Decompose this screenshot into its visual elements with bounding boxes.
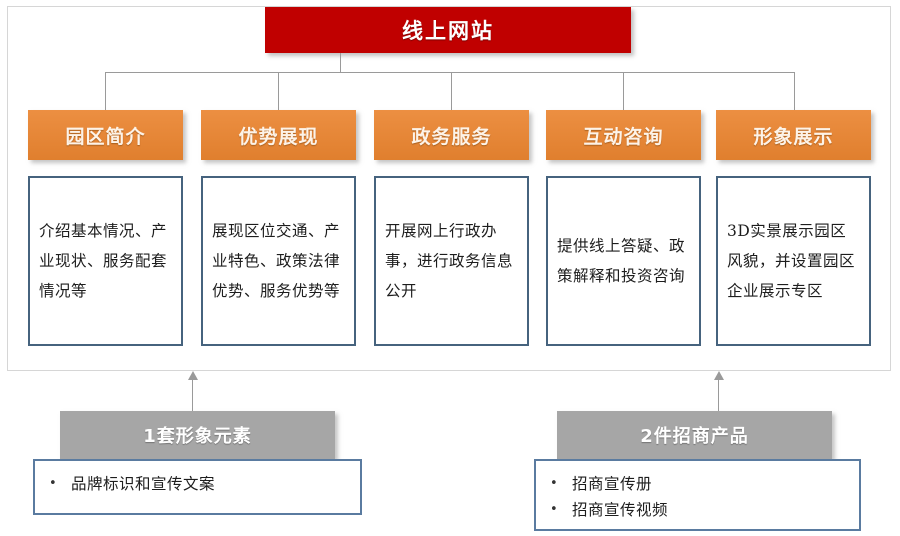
connector-drop-4 xyxy=(794,72,795,110)
branch-description-label: 3D实景展示园区风貌，并设置园区企业展示专区 xyxy=(727,216,860,306)
arrow-head-icon xyxy=(714,371,724,380)
connector-horizontal-bus xyxy=(105,72,794,73)
list-item: • 品牌标识和宣传文案 xyxy=(49,471,354,497)
branch-header-label: 园区简介 xyxy=(65,122,145,149)
connector-drop-2 xyxy=(451,72,452,110)
root-node-label: 线上网站 xyxy=(402,15,494,45)
branch-header-label: 优势展现 xyxy=(238,122,318,149)
bullet-dot-icon: • xyxy=(550,471,562,497)
branch-header-label: 形象展示 xyxy=(753,122,833,149)
arrow-shaft xyxy=(718,379,719,412)
branch-column-4: 形象展示 3D实景展示园区风貌，并设置园区企业展示专区 xyxy=(716,110,871,346)
branch-description-interactive-consulting: 提供线上答疑、政策解释和投资咨询 xyxy=(546,176,701,346)
branch-description-label: 介绍基本情况、产业现状、服务配套情况等 xyxy=(39,216,172,306)
bottom-group-title-investment-products[interactable]: 2件招商产品 xyxy=(557,411,832,459)
list-item-label: 招商宣传册 xyxy=(572,471,652,497)
branch-header-park-intro[interactable]: 园区简介 xyxy=(28,110,183,160)
bullet-dot-icon: • xyxy=(49,471,61,497)
connector-drop-3 xyxy=(623,72,624,110)
branch-column-1: 优势展现 展现区位交通、产业特色、政策法律优势、服务优势等 xyxy=(201,110,356,346)
root-node-online-website[interactable]: 线上网站 xyxy=(265,7,631,53)
bottom-group-investment-products: 2件招商产品 • 招商宣传册 • 招商宣传视频 xyxy=(557,411,832,459)
branch-header-government-services[interactable]: 政务服务 xyxy=(374,110,529,160)
list-item: • 招商宣传视频 xyxy=(550,497,853,523)
arrow-head-icon xyxy=(188,371,198,380)
branch-column-2: 政务服务 开展网上行政办事，进行政务信息公开 xyxy=(374,110,529,346)
bottom-group-title-image-elements[interactable]: 1套形象元素 xyxy=(60,411,335,459)
bottom-group-title-label: 1套形象元素 xyxy=(143,422,252,448)
branch-column-3: 互动咨询 提供线上答疑、政策解释和投资咨询 xyxy=(546,110,701,346)
branch-header-advantages[interactable]: 优势展现 xyxy=(201,110,356,160)
branch-header-image-display[interactable]: 形象展示 xyxy=(716,110,871,160)
bottom-group-image-elements: 1套形象元素 • 品牌标识和宣传文案 xyxy=(60,411,335,459)
connector-root-stem xyxy=(340,53,341,72)
branch-description-label: 展现区位交通、产业特色、政策法律优势、服务优势等 xyxy=(212,216,345,306)
bottom-group-title-label: 2件招商产品 xyxy=(640,422,749,448)
branch-description-label: 提供线上答疑、政策解释和投资咨询 xyxy=(557,231,690,291)
bottom-group-items-investment-products: • 招商宣传册 • 招商宣传视频 xyxy=(534,459,861,531)
branch-description-advantages: 展现区位交通、产业特色、政策法律优势、服务优势等 xyxy=(201,176,356,346)
list-item: • 招商宣传册 xyxy=(550,471,853,497)
branch-description-park-intro: 介绍基本情况、产业现状、服务配套情况等 xyxy=(28,176,183,346)
bottom-group-items-image-elements: • 品牌标识和宣传文案 xyxy=(33,459,362,515)
connector-drop-1 xyxy=(278,72,279,110)
list-item-label: 品牌标识和宣传文案 xyxy=(71,471,215,497)
list-item-label: 招商宣传视频 xyxy=(572,497,668,523)
branch-header-label: 政务服务 xyxy=(411,122,491,149)
branch-description-label: 开展网上行政办事，进行政务信息公开 xyxy=(385,216,518,306)
branch-header-label: 互动咨询 xyxy=(583,122,663,149)
branch-header-interactive-consulting[interactable]: 互动咨询 xyxy=(546,110,701,160)
connector-drop-0 xyxy=(105,72,106,110)
branch-description-government-services: 开展网上行政办事，进行政务信息公开 xyxy=(374,176,529,346)
branch-description-image-display: 3D实景展示园区风貌，并设置园区企业展示专区 xyxy=(716,176,871,346)
branch-column-0: 园区简介 介绍基本情况、产业现状、服务配套情况等 xyxy=(28,110,183,346)
arrow-shaft xyxy=(192,379,193,412)
bullet-dot-icon: • xyxy=(550,497,562,523)
